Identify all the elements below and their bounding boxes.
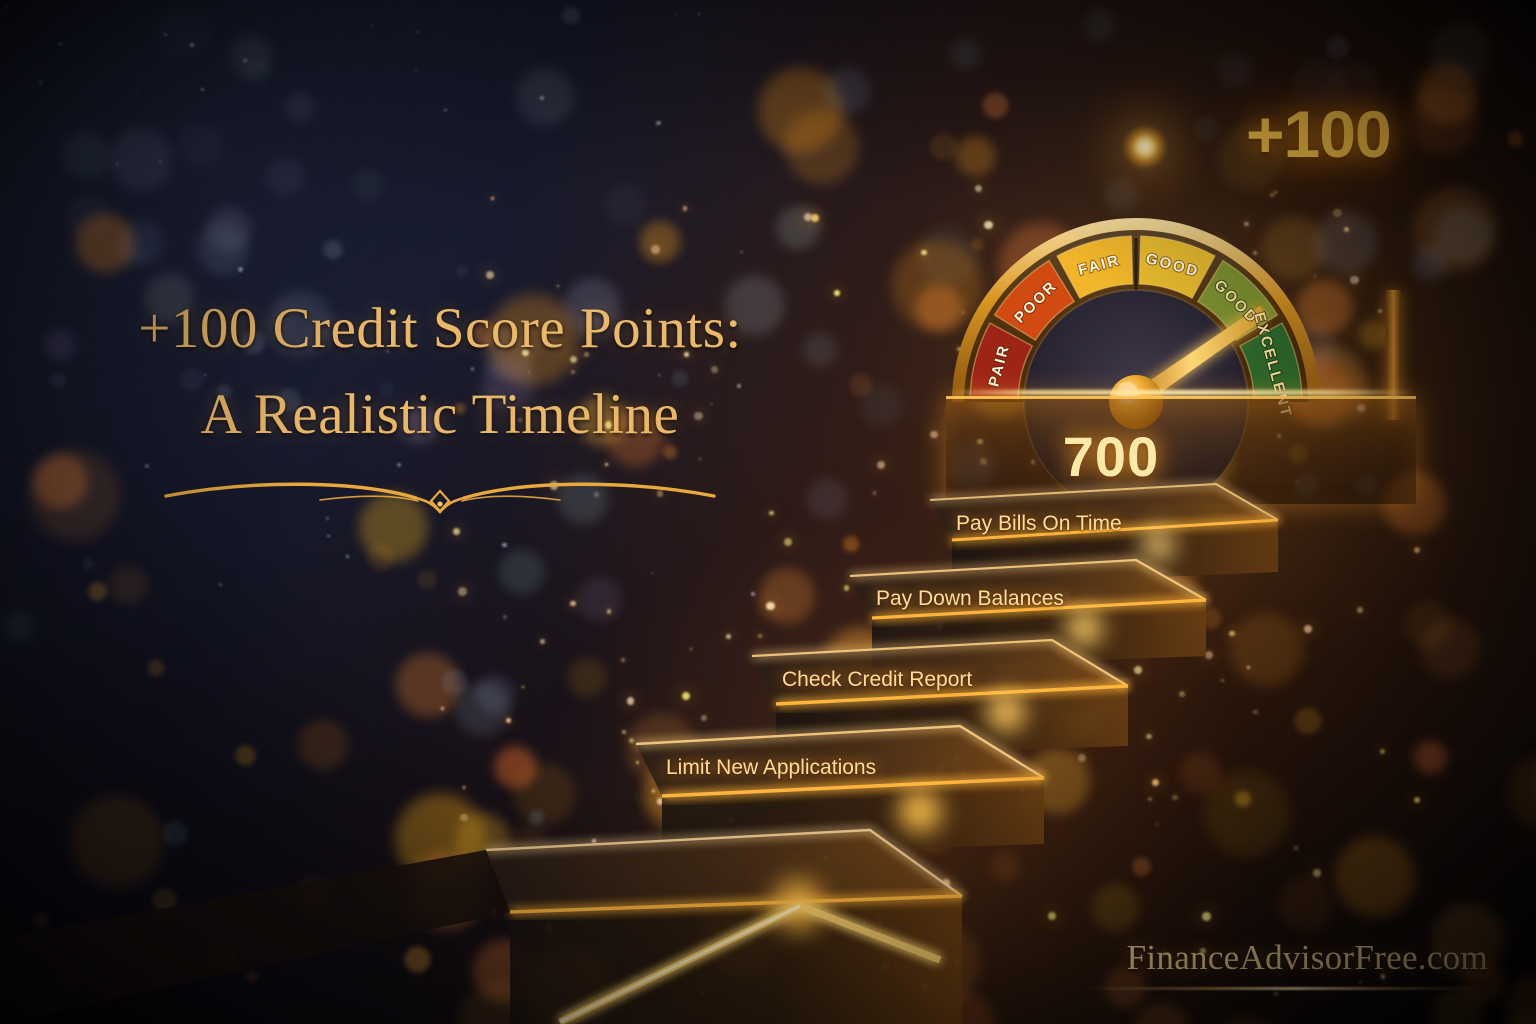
glow-trail [560,906,940,1022]
headline-block: +100 Credit Score Points: A Realistic Ti… [0,300,880,522]
stair-base-slab [0,850,510,1024]
step-label-pay-bills-on-time: Pay Bills On Time [956,512,1122,536]
page-title-line-1: +100 Credit Score Points: [0,300,880,358]
step-label-pay-down-balances: Pay Down Balances [876,587,1064,611]
decorative-flourish-divider-icon [160,474,720,522]
score-delta-badge: +100 [1246,96,1391,172]
stair-step-4 [486,790,962,1024]
step-label-limit-new-applications: Limit New Applications [666,756,876,780]
site-branding: FinanceAdvisorFree.com [1127,938,1488,978]
page-title-line-2: A Realistic Timeline [0,386,880,444]
step-label-check-credit-report: Check Credit Report [782,668,972,692]
poster-canvas: +100 Credit Score Points: A Realistic Ti… [0,0,1536,1024]
credit-score-value: 700 [946,424,1276,489]
branding-underline [1086,987,1488,990]
